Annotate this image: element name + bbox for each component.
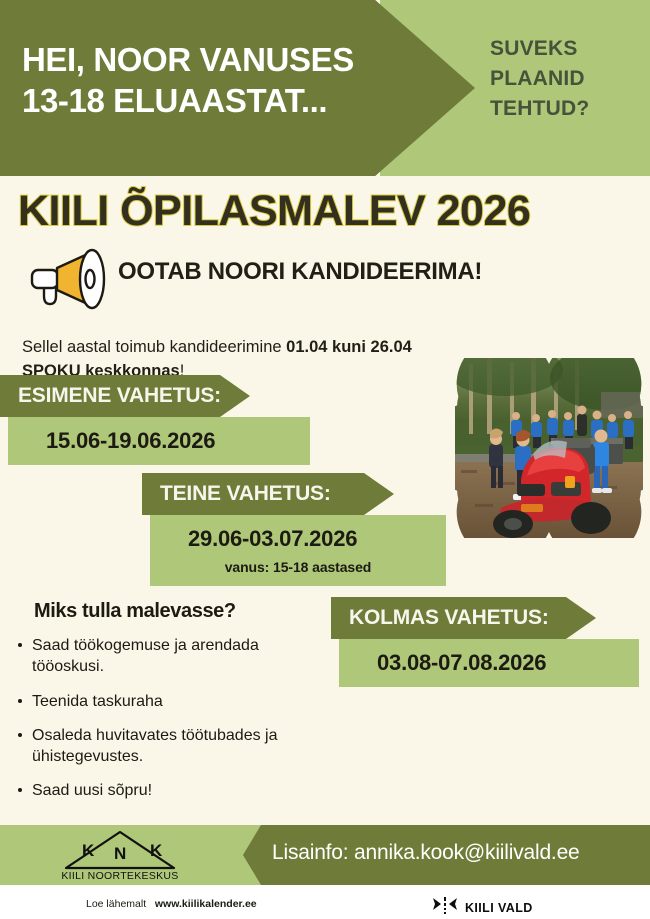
list-item: Saad uusi sõpru!	[14, 780, 324, 801]
shift-2-dates: 29.06-03.07.2026	[150, 515, 446, 563]
header-headline-line1: HEI, NOOR VANUSES	[22, 41, 354, 78]
megaphone-icon	[24, 244, 120, 318]
knk-letter-mid: N	[114, 844, 126, 863]
shift-3-dates: 03.08-07.08.2026	[339, 639, 639, 687]
list-item: Saad töökogemuse ja arendada tööoskusi.	[14, 635, 324, 678]
shift-block-1: ESIMENE VAHETUS: 15.06-19.06.2026	[0, 375, 310, 465]
kiili-vald-text: KIILI VALD	[465, 901, 533, 915]
kiili-noortekeskus-logo: K N K KIILI NOORTEKESKUS	[56, 828, 184, 882]
page-title: KIILI ÕPILASMALEV 2026	[18, 187, 638, 236]
knk-letter-left: K	[82, 841, 95, 860]
read-more-label: Loe lähemalt	[86, 898, 146, 910]
why-join-title: Miks tulla malevasse?	[34, 600, 236, 623]
header-headline: HEI, NOOR VANUSES 13-18 ELUAASTAT...	[22, 40, 442, 121]
header-banner: HEI, NOOR VANUSES 13-18 ELUAASTAT... SUV…	[0, 0, 650, 176]
header-subhead-line3: TEHTUD?	[490, 94, 640, 124]
intro-part-1: Sellel aastal toimub kandideerimine	[22, 338, 286, 356]
list-item: Teenida taskuraha	[14, 691, 324, 712]
shift-2-label: TEINE VAHETUS:	[142, 473, 394, 515]
header-subhead-line2: PLAANID	[490, 64, 640, 94]
knk-caption: KIILI NOORTEKESKUS	[61, 870, 178, 882]
header-headline-line2: 13-18 ELUAASTAT...	[22, 81, 442, 122]
header-subhead-line1: SUVEKS	[490, 34, 640, 64]
list-item: Osaleda huvitavates töötubades ja ühiste…	[14, 725, 324, 768]
slogan-text: OOTAB NOORI KANDIDEERIMA!	[118, 258, 482, 286]
shift-2-age: vanus: 15-18 aastased	[150, 559, 446, 586]
knk-letter-right: K	[150, 841, 163, 860]
kiili-vald-mark-icon	[432, 896, 458, 919]
header-subhead: SUVEKS PLAANID TEHTUD?	[490, 34, 640, 123]
shift-1-label: ESIMENE VAHETUS:	[0, 375, 250, 417]
shift-block-2: TEINE VAHETUS: 29.06-03.07.2026 vanus: 1…	[142, 473, 446, 586]
camp-photo	[455, 358, 643, 538]
shift-block-3: KOLMAS VAHETUS: 03.08-07.08.2026	[331, 597, 639, 687]
kiili-vald-logo: KIILI VALD	[432, 896, 533, 919]
read-more-line: Loe lähemalt www.kiilikalender.ee	[86, 898, 257, 910]
read-more-url[interactable]: www.kiilikalender.ee	[155, 898, 257, 910]
poster-root: HEI, NOOR VANUSES 13-18 ELUAASTAT... SUV…	[0, 0, 650, 919]
contact-email-text[interactable]: Lisainfo: annika.kook@kiilivald.ee	[272, 841, 580, 865]
shift-3-label: KOLMAS VAHETUS:	[331, 597, 596, 639]
why-join-list: Saad töökogemuse ja arendada tööoskusi. …	[14, 635, 324, 815]
shift-1-dates: 15.06-19.06.2026	[8, 417, 310, 465]
